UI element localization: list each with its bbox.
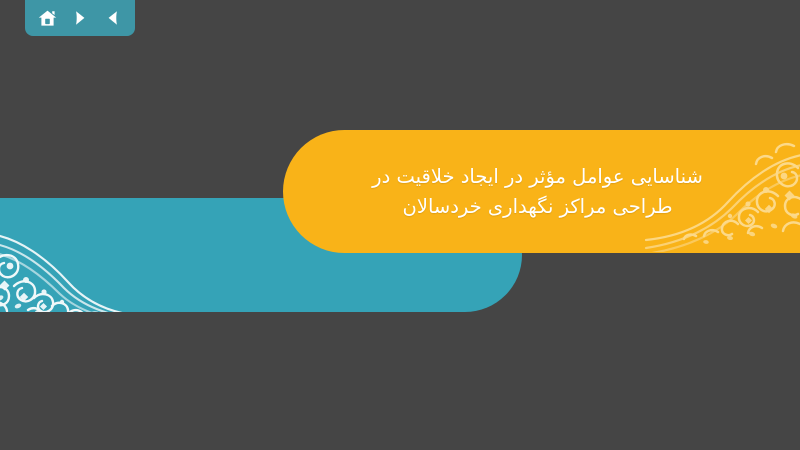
arabesque-corner-ornament [0,198,144,312]
home-button[interactable] [34,6,60,30]
title-line-1: شناسایی عوامل مؤثر در ایجاد خلاقیت در [372,162,703,192]
back-button[interactable] [100,6,126,30]
slide-title: شناسایی عوامل مؤثر در ایجاد خلاقیت در طر… [283,130,800,253]
forward-arrow-icon [71,9,89,27]
yellow-banner: شناسایی عوامل مؤثر در ایجاد خلاقیت در طر… [283,130,800,253]
forward-button[interactable] [67,6,93,30]
back-arrow-icon [104,9,122,27]
navigation-bar [25,0,135,36]
slide-stage: شناسایی عوامل مؤثر در ایجاد خلاقیت در طر… [0,0,800,450]
home-icon [38,9,57,28]
title-line-2: طراحی مراکز نگهداری خردسالان [403,192,673,222]
